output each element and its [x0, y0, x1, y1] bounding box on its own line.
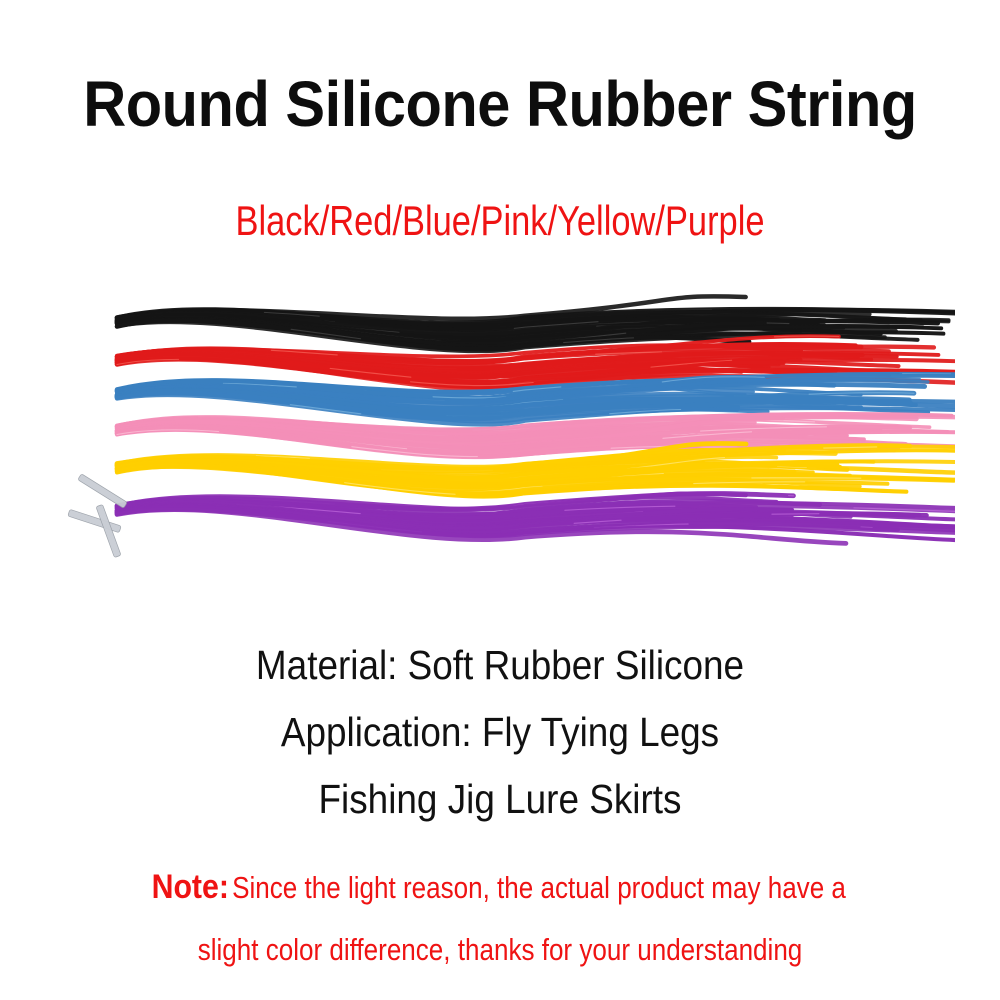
- note-line-1: Note:Since the light reason, the actual …: [80, 856, 920, 919]
- note-text-1: Since the light reason, the actual produ…: [232, 870, 846, 905]
- spec-application: Application: Fly Tying Legs: [50, 699, 950, 766]
- product-listing-image: Round Silicone Rubber String Black/Red/B…: [0, 0, 1000, 1000]
- silicone-strings-illustration: [55, 288, 955, 588]
- note-label: Note:: [152, 856, 235, 918]
- page-title: Round Silicone Rubber String: [35, 68, 965, 140]
- color-options-subtitle: Black/Red/Blue/Pink/Yellow/Purple: [90, 196, 910, 246]
- disclaimer-note: Note:Since the light reason, the actual …: [0, 856, 1000, 981]
- product-specs: Material: Soft Rubber Silicone Applicati…: [0, 632, 1000, 833]
- product-photo: [55, 288, 955, 588]
- note-line-2: slight color difference, thanks for your…: [80, 919, 920, 981]
- spec-usage: Fishing Jig Lure Skirts: [50, 766, 950, 833]
- spec-material: Material: Soft Rubber Silicone: [50, 632, 950, 699]
